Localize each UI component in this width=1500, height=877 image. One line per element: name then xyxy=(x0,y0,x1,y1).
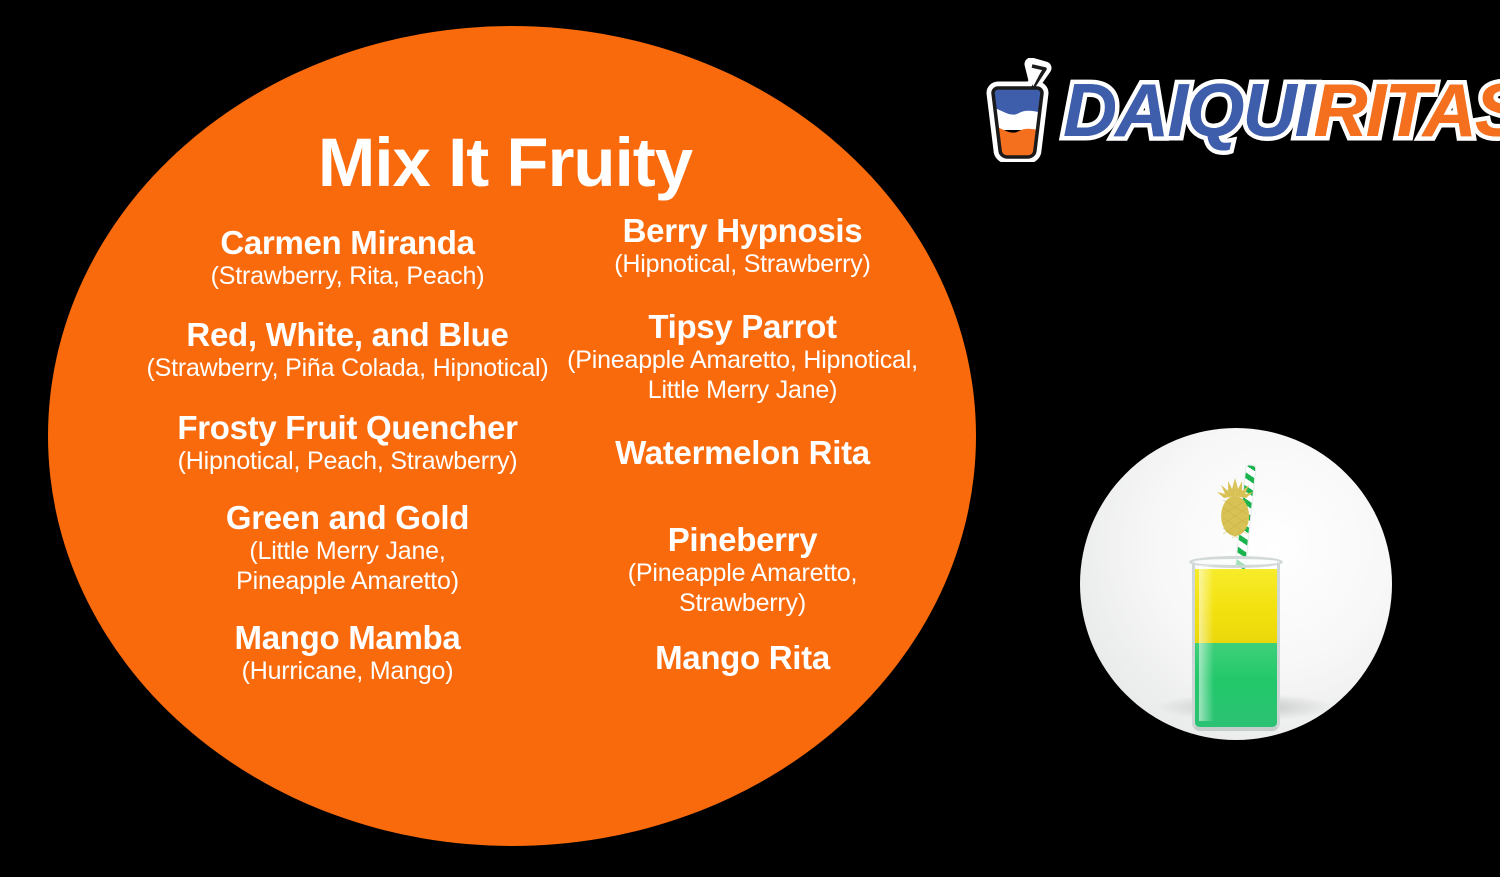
logo-wordmark: DAIQUIRITAS xyxy=(1063,58,1500,162)
brand-logo[interactable]: DAIQUIRITAS DAIQUIRITAS xyxy=(985,58,1415,178)
daiquiri-cup-icon xyxy=(985,58,1059,162)
photo-caption-text: Green and Gold xyxy=(1080,428,1137,667)
drink-photo: Green and Gold xyxy=(1080,428,1392,740)
logo-text-daiqui: DAIQUI xyxy=(1063,68,1314,152)
drink-ingredients: (Pineapple Amaretto, Hipnotical, Little … xyxy=(520,346,965,405)
drink-item: Watermelon Rita xyxy=(520,435,965,472)
drink-column-right: Berry Hypnosis (Hipnotical, Strawberry) … xyxy=(520,213,965,677)
drink-ingredients: (Pineapple Amaretto, Strawberry) xyxy=(520,559,965,618)
pineapple-garnish-icon xyxy=(1212,478,1258,538)
drink-item: Tipsy Parrot (Pineapple Amaretto, Hipnot… xyxy=(520,309,965,405)
drink-name: Tipsy Parrot xyxy=(520,309,965,346)
drink-name: Berry Hypnosis xyxy=(520,213,965,250)
glass-highlight xyxy=(1199,565,1215,721)
drink-item: Mango Rita xyxy=(520,640,965,677)
drink-name: Pineberry xyxy=(520,522,965,559)
poster-canvas: Mix It Fruity Carmen Miranda (Strawberry… xyxy=(0,0,1500,877)
drink-item: Pineberry (Pineapple Amaretto, Strawberr… xyxy=(520,522,965,618)
page-title: Mix It Fruity xyxy=(0,128,1010,197)
drink-name: Watermelon Rita xyxy=(520,435,965,472)
drink-item: Berry Hypnosis (Hipnotical, Strawberry) xyxy=(520,213,965,279)
drink-ingredients: (Hipnotical, Strawberry) xyxy=(520,250,965,280)
drink-name: Mango Rita xyxy=(520,640,965,677)
logo-text-ritas: RITAS xyxy=(1314,68,1500,152)
